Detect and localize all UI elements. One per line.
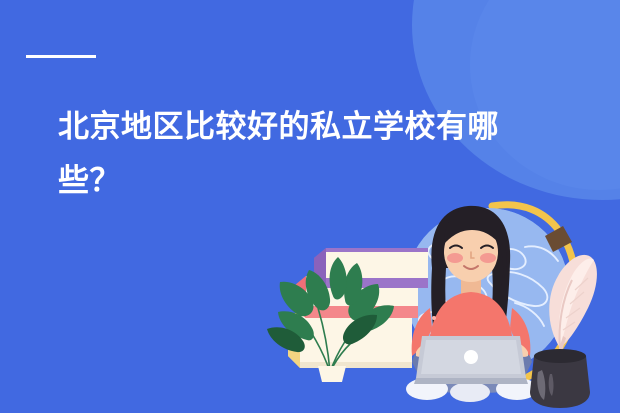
- white-underline-rule: [26, 55, 96, 58]
- promo-banner: 北京地区比较好的私立学校有哪些？: [0, 0, 620, 413]
- page-title: 北京地区比较好的私立学校有哪些？: [58, 100, 558, 208]
